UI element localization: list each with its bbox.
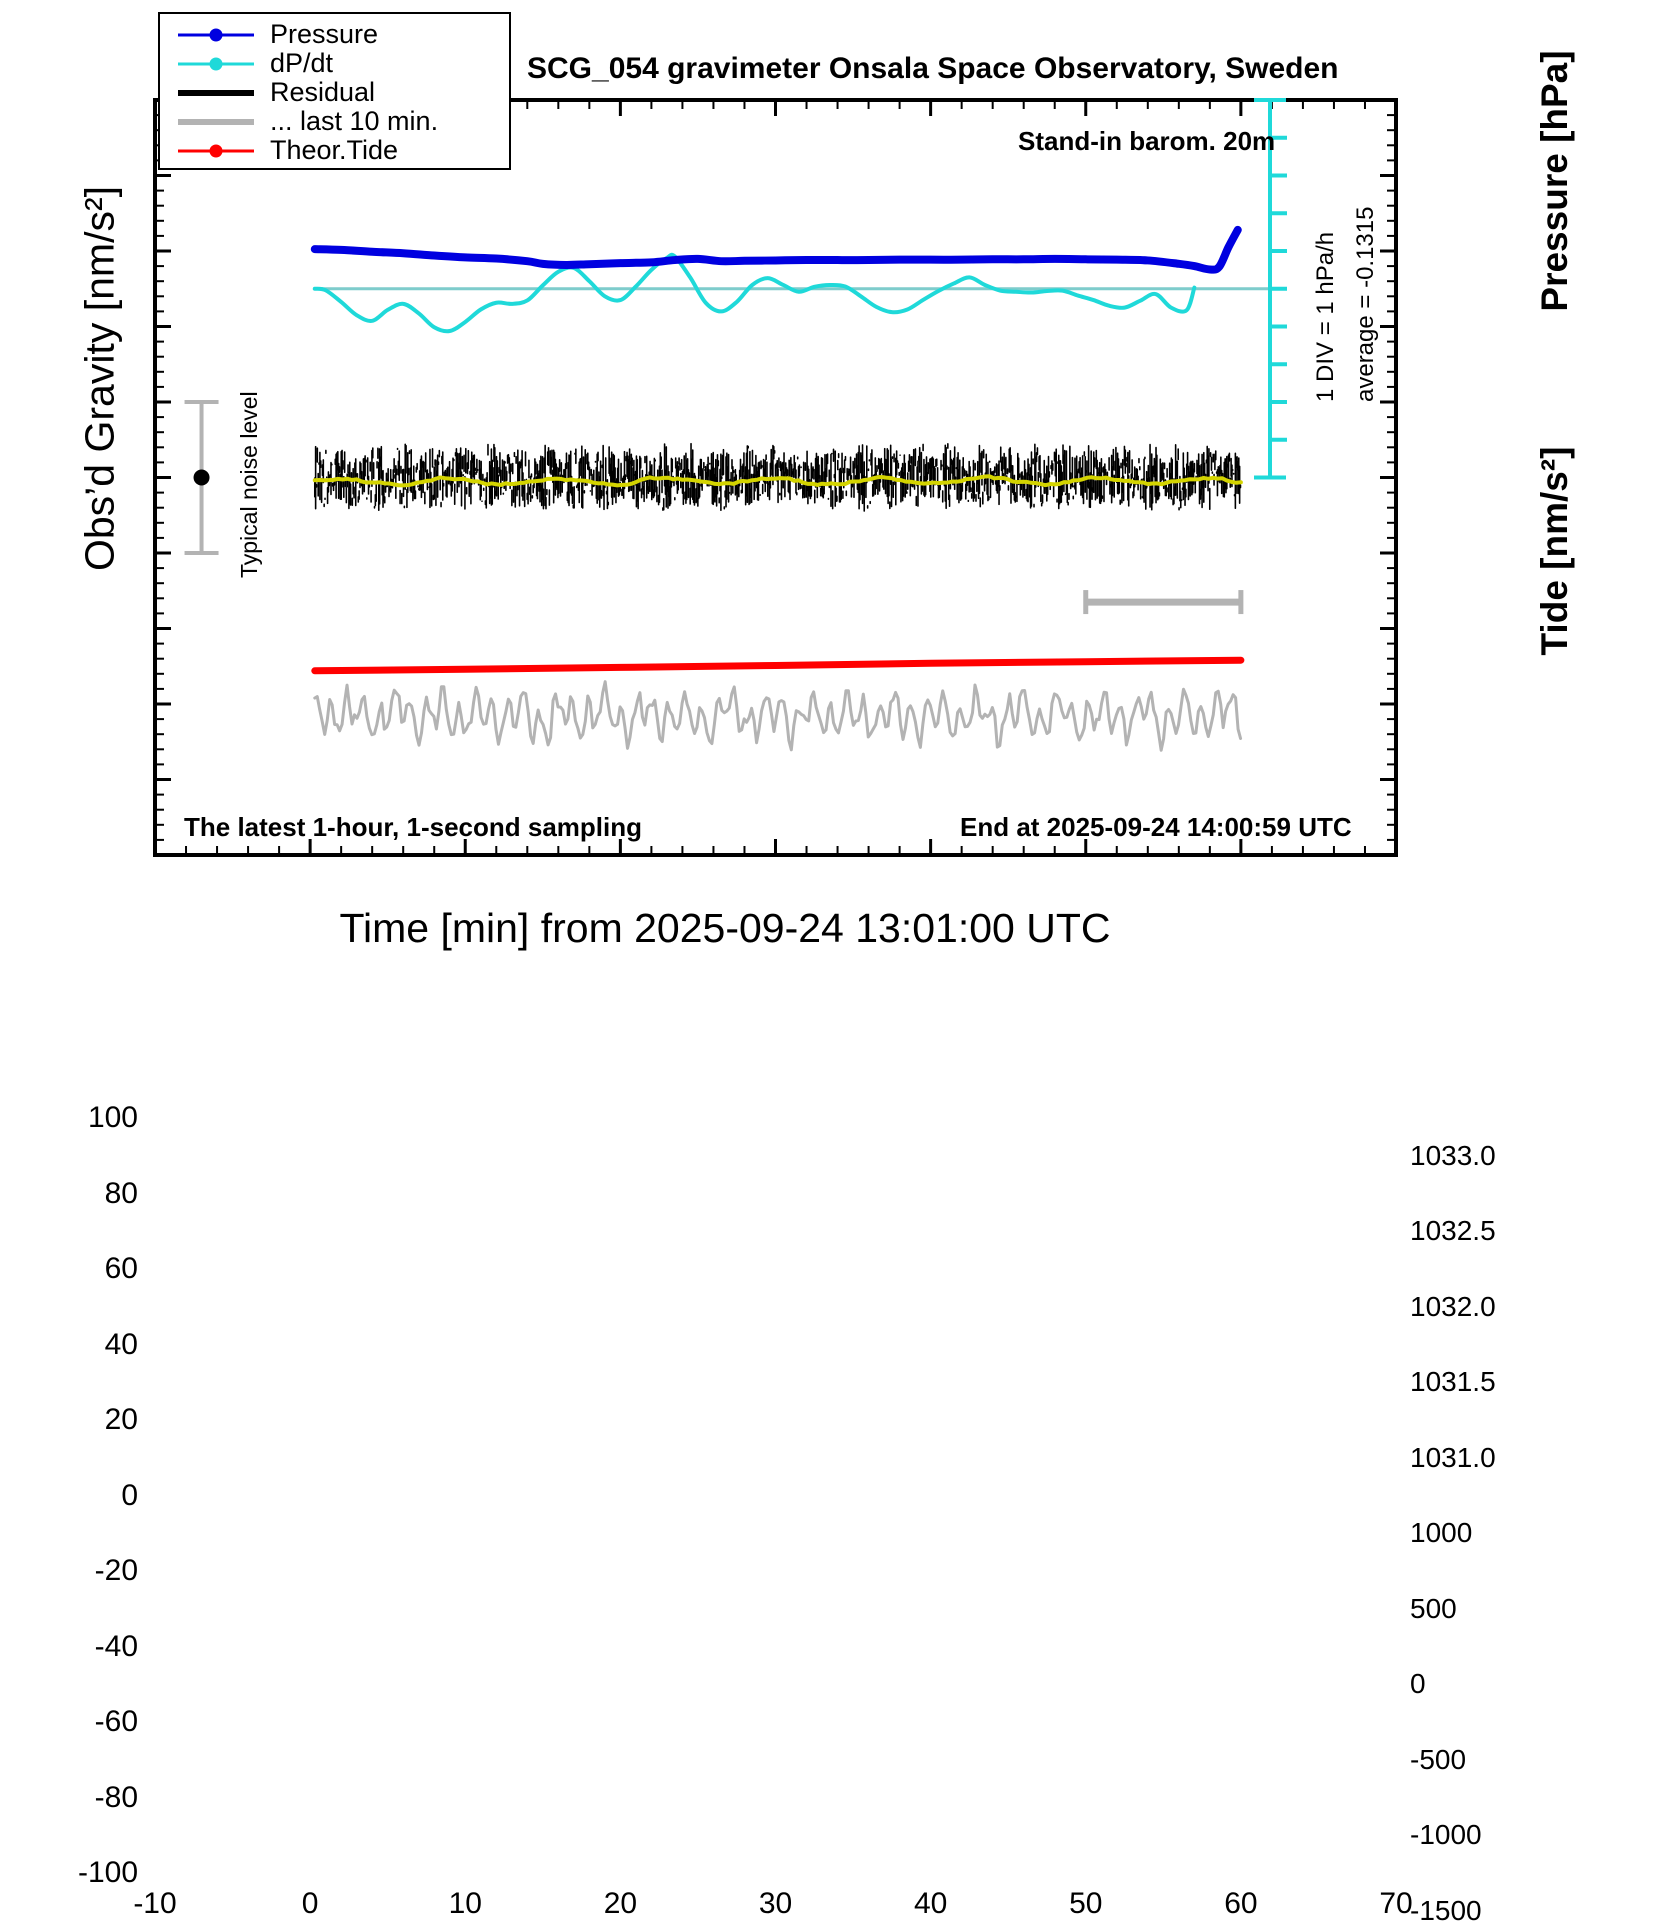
- footer-right-annotation: End at 2025-09-24 14:00:59 UTC: [960, 812, 1352, 843]
- legend-label: Residual: [270, 77, 375, 108]
- legend-line: [178, 119, 254, 125]
- tick-label: 1000: [1410, 1517, 1540, 1549]
- tick-label: 20: [28, 1403, 138, 1437]
- series-dpdt: [315, 255, 1195, 332]
- tick-label: -500: [1410, 1744, 1540, 1776]
- tick-label: 60: [1196, 1887, 1286, 1921]
- dpdt-scale-annotation: 1 DIV = 1 hPa/h: [1312, 232, 1340, 402]
- legend-marker-dot: [210, 57, 223, 70]
- tick-label: 40: [886, 1887, 976, 1921]
- y-axis-title-pressure: Pressure [hPa]: [1534, 0, 1576, 391]
- noise-bar-center-dot: [194, 470, 210, 486]
- dpdt-average-annotation: average = -0.1315: [1352, 207, 1380, 402]
- legend-marker-dot: [210, 28, 223, 41]
- legend-item: Pressure: [160, 20, 509, 49]
- tick-label: 1032.0: [1410, 1291, 1540, 1323]
- tick-label: 100: [28, 1101, 138, 1135]
- legend-line: [178, 90, 254, 96]
- y-axis-title-left: Obs’d Gravity [nm/s²]: [77, 79, 124, 679]
- tick-label: 1031.0: [1410, 1442, 1540, 1474]
- tick-label: -10: [110, 1887, 200, 1921]
- tick-label: 1032.5: [1410, 1215, 1540, 1247]
- legend-swatch-pressure: [178, 25, 254, 45]
- tick-label: 50: [1041, 1887, 1131, 1921]
- legend-label: Theor.Tide: [270, 135, 398, 166]
- legend-item: ... last 10 min.: [160, 107, 509, 136]
- tick-label: 10: [420, 1887, 510, 1921]
- legend-marker-dot: [210, 144, 223, 157]
- tick-label: 0: [265, 1887, 355, 1921]
- legend-swatch-tide: [178, 141, 254, 161]
- series-theor-tide: [315, 660, 1241, 671]
- legend-label: Pressure: [270, 19, 378, 50]
- tick-label: -100: [28, 1856, 138, 1890]
- series-last-10-min: [315, 682, 1241, 751]
- legend-swatch-last10: [178, 112, 254, 132]
- page-title: SCG_054 gravimeter Onsala Space Observat…: [527, 52, 1339, 86]
- legend-swatch-dpdt: [178, 54, 254, 74]
- plot-canvas: Obs’d Gravity [nm/s²] Time [min] from 20…: [0, 0, 1660, 1020]
- typical-noise-level-annotation: Typical noise level: [236, 391, 263, 578]
- legend-item: Residual: [160, 78, 509, 107]
- tick-label: -1500: [1410, 1895, 1540, 1927]
- legend-label: ... last 10 min.: [270, 106, 438, 137]
- series-pressure: [315, 230, 1238, 270]
- tick-label: 0: [28, 1479, 138, 1513]
- x-axis-title: Time [min] from 2025-09-24 13:01:00 UTC: [0, 905, 1450, 952]
- tick-label: 1031.5: [1410, 1366, 1540, 1398]
- tick-label: 80: [28, 1177, 138, 1211]
- legend-swatch-residual: [178, 83, 254, 103]
- legend-item: dP/dt: [160, 49, 509, 78]
- tick-label: -40: [28, 1630, 138, 1664]
- footer-left-annotation: The latest 1-hour, 1-second sampling: [184, 812, 642, 843]
- stand-in-barom-annotation: Stand-in barom. 20m: [1018, 126, 1275, 157]
- tick-label: 30: [731, 1887, 821, 1921]
- tick-label: -80: [28, 1781, 138, 1815]
- tick-label: 40: [28, 1328, 138, 1362]
- legend-label: dP/dt: [270, 48, 333, 79]
- tick-label: 1033.0: [1410, 1140, 1540, 1172]
- tick-label: 20: [575, 1887, 665, 1921]
- tick-label: -60: [28, 1705, 138, 1739]
- tick-label: -20: [28, 1554, 138, 1588]
- tick-label: 0: [1410, 1668, 1540, 1700]
- tick-label: -1000: [1410, 1819, 1540, 1851]
- tick-label: 60: [28, 1252, 138, 1286]
- legend: Pressure dP/dt Residual ... last 10 min.…: [158, 12, 511, 170]
- tick-label: 500: [1410, 1593, 1540, 1625]
- y-axis-title-tide: Tide [nm/s²]: [1534, 351, 1576, 751]
- legend-item: Theor.Tide: [160, 136, 509, 165]
